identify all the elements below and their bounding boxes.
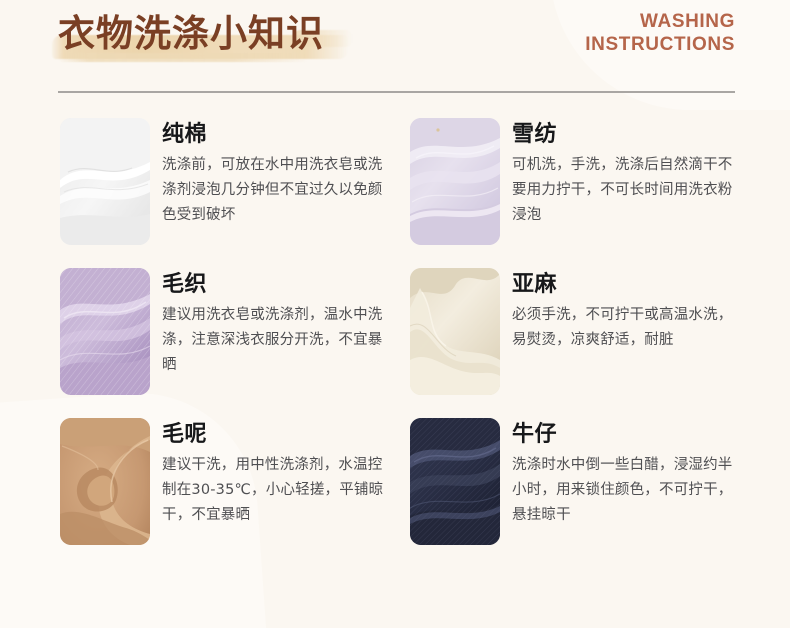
fabric-name: 纯棉 bbox=[162, 120, 394, 150]
english-subtitle-line-1: WASHING bbox=[585, 10, 735, 33]
fabric-item-wool-knit: 毛织 建议用洗衣皂或洗涤剂，温水中洗涤，注意深浅衣服分开洗，不宜暴晒 bbox=[60, 268, 410, 418]
tweed-fabric-thumbnail bbox=[60, 418, 150, 545]
fabric-name: 亚麻 bbox=[512, 270, 744, 300]
fabric-description: 洗涤前，可放在水中用洗衣皂或洗涤剂浸泡几分钟但不宜过久以免颜色受到破坏 bbox=[162, 153, 394, 228]
english-subtitle: WASHING INSTRUCTIONS bbox=[585, 10, 735, 56]
title-group: 衣物洗涤小知识 bbox=[58, 8, 324, 66]
fabric-item-text: 雪纺 可机洗，手洗，洗涤后自然滴干不要用力拧干，不可长时间用洗衣粉浸泡 bbox=[512, 118, 744, 228]
fabric-item-text: 毛织 建议用洗衣皂或洗涤剂，温水中洗涤，注意深浅衣服分开洗，不宜暴晒 bbox=[162, 268, 394, 378]
fabric-item-text: 牛仔 洗涤时水中倒一些白醋，浸湿约半小时，用来锁住颜色，不可拧干，悬挂晾干 bbox=[512, 418, 744, 528]
fabric-description: 必须手洗，不可拧干或高温水洗，易熨烫，凉爽舒适，耐脏 bbox=[512, 303, 744, 353]
fabric-item-chiffon: 雪纺 可机洗，手洗，洗涤后自然滴干不要用力拧干，不可长时间用洗衣粉浸泡 bbox=[410, 118, 760, 268]
linen-fabric-thumbnail bbox=[410, 268, 500, 395]
fabric-name: 毛呢 bbox=[162, 420, 394, 450]
fabric-name: 牛仔 bbox=[512, 420, 744, 450]
fabric-name: 雪纺 bbox=[512, 120, 744, 150]
fabric-description: 建议干洗，用中性洗涤剂，水温控制在30-35℃，小心轻搓，平铺晾干，不宜暴晒 bbox=[162, 453, 394, 528]
wool-knit-fabric-thumbnail bbox=[60, 268, 150, 395]
fabric-item-tweed: 毛呢 建议干洗，用中性洗涤剂，水温控制在30-35℃，小心轻搓，平铺晾干，不宜暴… bbox=[60, 418, 410, 568]
page-title: 衣物洗涤小知识 bbox=[58, 8, 324, 60]
fabric-item-text: 毛呢 建议干洗，用中性洗涤剂，水温控制在30-35℃，小心轻搓，平铺晾干，不宜暴… bbox=[162, 418, 394, 528]
english-subtitle-line-2: INSTRUCTIONS bbox=[585, 33, 735, 56]
chiffon-fabric-thumbnail bbox=[410, 118, 500, 245]
cotton-fabric-thumbnail bbox=[60, 118, 150, 245]
page-header: 衣物洗涤小知识 WASHING INSTRUCTIONS bbox=[0, 0, 790, 93]
fabric-item-linen: 亚麻 必须手洗，不可拧干或高温水洗，易熨烫，凉爽舒适，耐脏 bbox=[410, 268, 760, 418]
fabric-care-grid: 纯棉 洗涤前，可放在水中用洗衣皂或洗涤剂浸泡几分钟但不宜过久以免颜色受到破坏 bbox=[0, 118, 790, 568]
fabric-item-cotton: 纯棉 洗涤前，可放在水中用洗衣皂或洗涤剂浸泡几分钟但不宜过久以免颜色受到破坏 bbox=[60, 118, 410, 268]
fabric-item-text: 纯棉 洗涤前，可放在水中用洗衣皂或洗涤剂浸泡几分钟但不宜过久以免颜色受到破坏 bbox=[162, 118, 394, 228]
fabric-item-denim: 牛仔 洗涤时水中倒一些白醋，浸湿约半小时，用来锁住颜色，不可拧干，悬挂晾干 bbox=[410, 418, 760, 568]
fabric-item-text: 亚麻 必须手洗，不可拧干或高温水洗，易熨烫，凉爽舒适，耐脏 bbox=[512, 268, 744, 353]
fabric-name: 毛织 bbox=[162, 270, 394, 300]
fabric-description: 可机洗，手洗，洗涤后自然滴干不要用力拧干，不可长时间用洗衣粉浸泡 bbox=[512, 153, 744, 228]
header-divider bbox=[58, 91, 735, 93]
denim-fabric-thumbnail bbox=[410, 418, 500, 545]
fabric-description: 建议用洗衣皂或洗涤剂，温水中洗涤，注意深浅衣服分开洗，不宜暴晒 bbox=[162, 303, 394, 378]
fabric-description: 洗涤时水中倒一些白醋，浸湿约半小时，用来锁住颜色，不可拧干，悬挂晾干 bbox=[512, 453, 744, 528]
